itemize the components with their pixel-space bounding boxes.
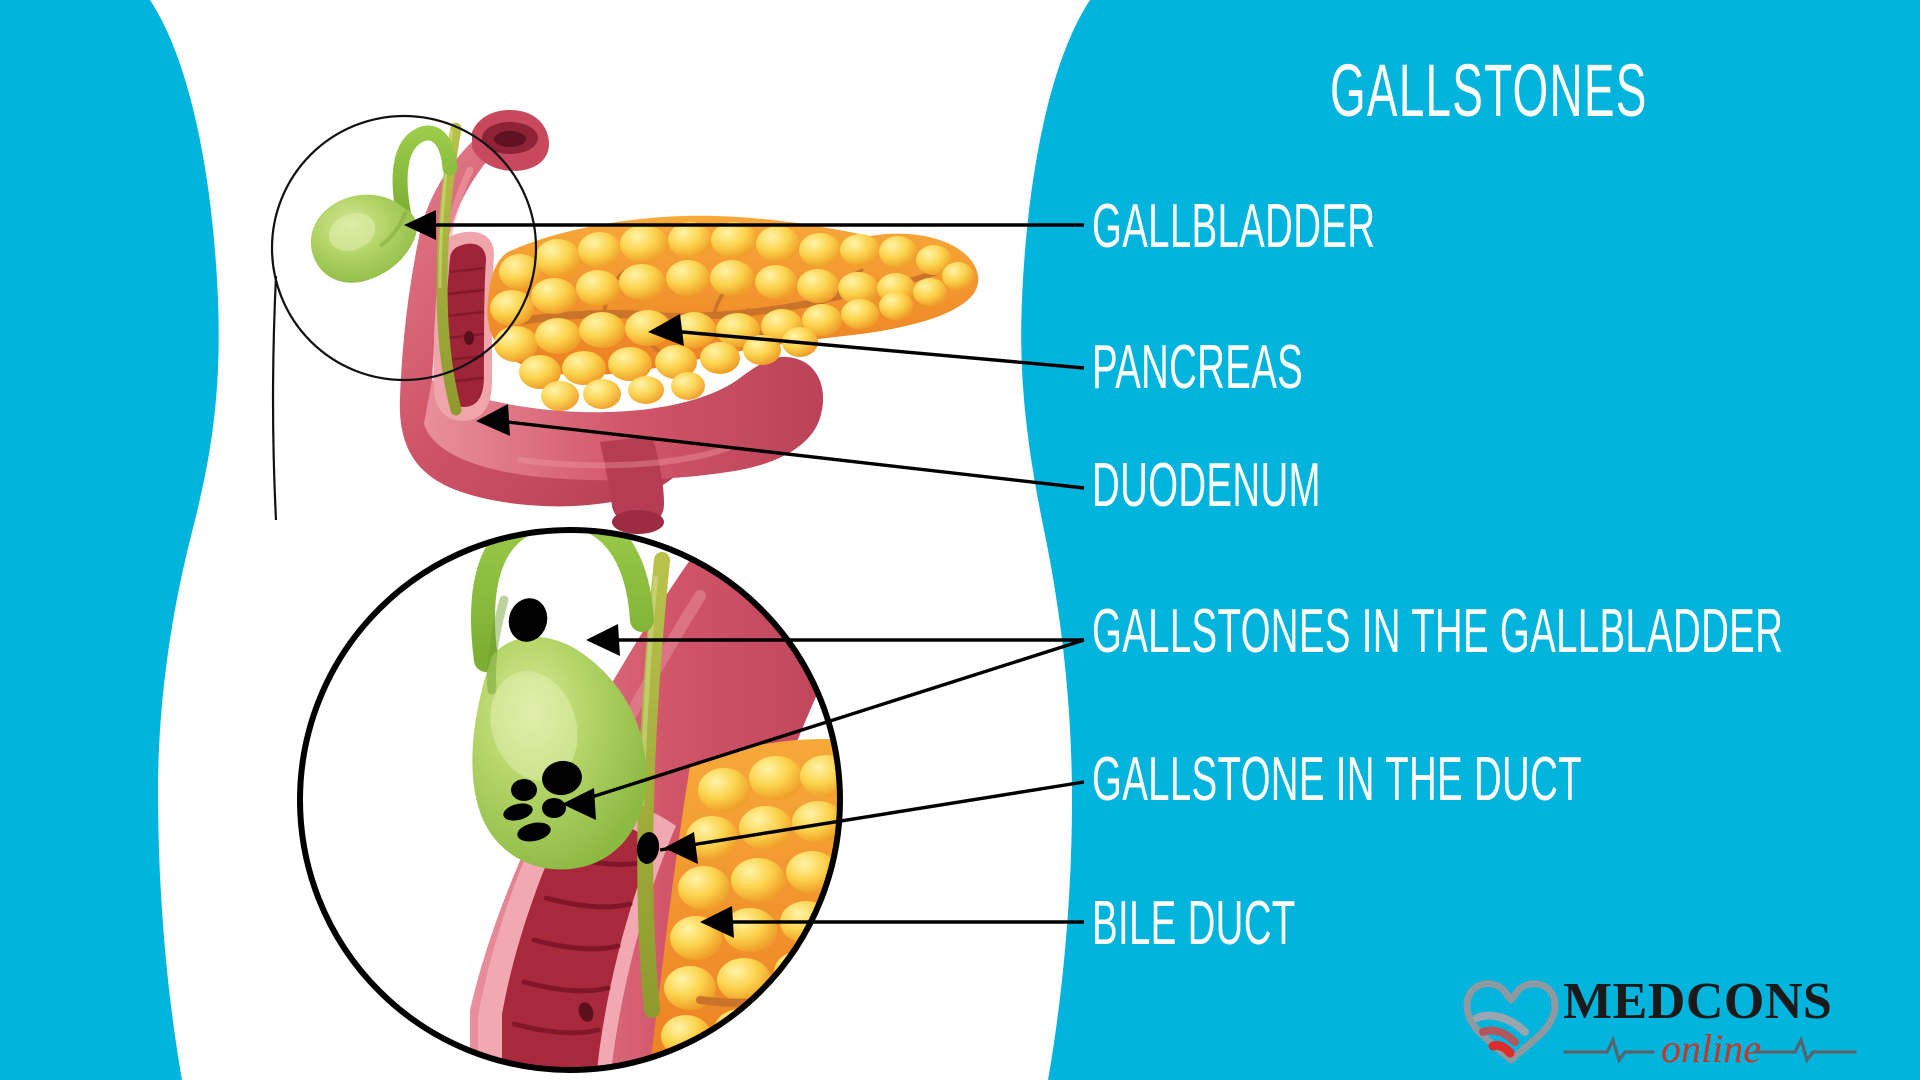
label-duodenum: DUODENUM [1092,455,1321,517]
leader-gallstone-duct [660,782,1084,850]
label-bile-duct: BILE DUCT [1092,893,1296,955]
leader-duodenum [490,420,1084,488]
infographic-canvas: GALLSTONES GALLBLADDER PANCREAS DUODENUM… [0,0,1920,1080]
page-title: GALLSTONES [1330,54,1648,128]
heart-wifi-icon [1467,984,1555,1060]
medcons-online-logo[interactable]: MEDCONS online [1455,962,1875,1070]
label-pancreas: PANCREAS [1092,337,1303,399]
label-gallstones-in-gallbladder: GALLSTONES IN THE GALLBLADDER [1092,601,1783,663]
logo-ecg-right [1755,1040,1855,1060]
leader-pancreas [660,330,1084,368]
leader-arrowheads [404,210,734,938]
leader-lines-layer [0,0,1920,1080]
leader-gallstones-gb-b [576,640,1084,802]
logo-ecg-left [1565,1040,1653,1060]
label-gallbladder: GALLBLADDER [1092,196,1375,258]
logo-tagline: online [1661,1026,1761,1070]
logo-wordmark: MEDCONS [1563,973,1832,1030]
label-gallstone-in-the-duct: GALLSTONE IN THE DUCT [1092,749,1582,811]
